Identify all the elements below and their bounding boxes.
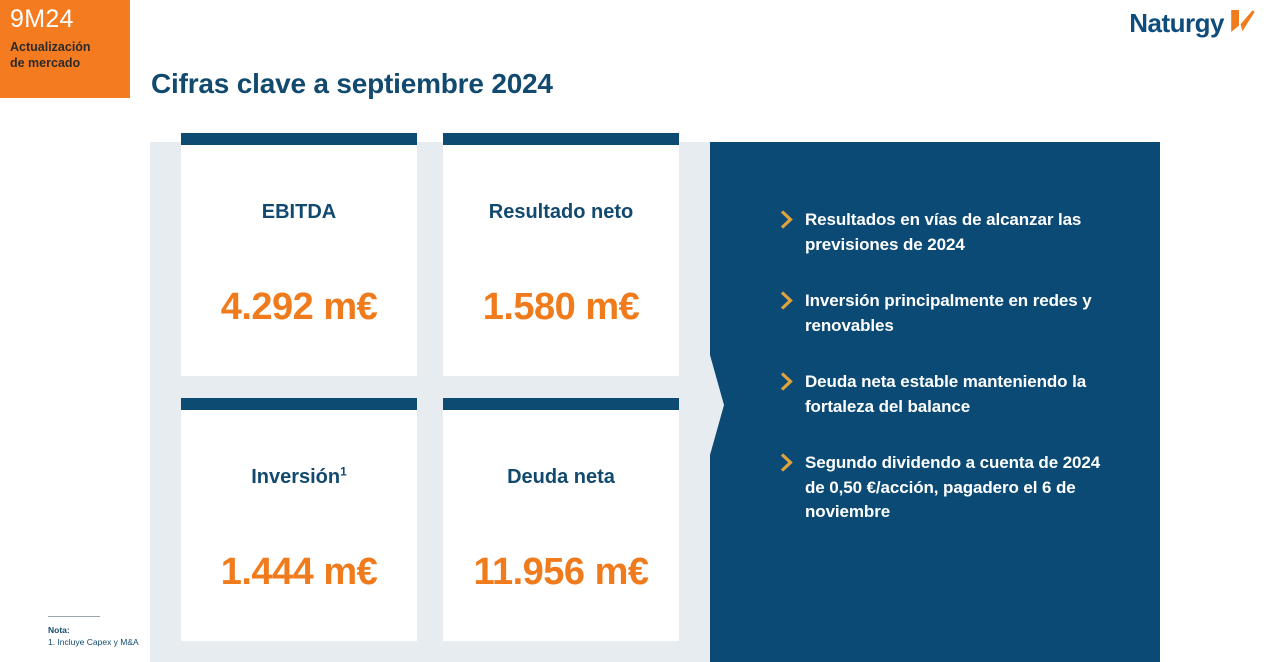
highlights-list: Resultados en vías de alcanzar las previ…: [780, 208, 1120, 525]
kpi-value: 1.444 m€: [181, 551, 417, 594]
kpi-value: 4.292 m€: [181, 286, 417, 329]
brand-logo: Naturgy: [1129, 8, 1256, 39]
kpi-label: Deuda neta: [443, 466, 679, 489]
highlights-panel: Resultados en vías de alcanzar las previ…: [710, 142, 1160, 662]
kpi-card-body: Resultado neto 1.580 m€: [443, 145, 679, 376]
footnote-text: 1. Incluye Capex y M&A: [48, 636, 144, 648]
kpi-value: 11.956 m€: [443, 551, 679, 594]
kpi-footnote-marker: 1: [340, 464, 347, 478]
chevron-right-icon: [780, 451, 796, 477]
period-subtitle-line1: Actualización: [10, 39, 120, 55]
kpi-label: Resultado neto: [443, 201, 679, 224]
kpi-value: 1.580 m€: [443, 286, 679, 329]
kpi-label: EBITDA: [181, 201, 417, 224]
kpi-card-top-bar: [181, 398, 417, 410]
kpi-label-text: Resultado neto: [489, 201, 633, 223]
kpi-card-deuda-neta: Deuda neta 11.956 m€: [443, 398, 679, 641]
highlight-text: Deuda neta estable manteniendo la fortal…: [805, 370, 1120, 419]
kpi-card-ebitda: EBITDA 4.292 m€: [181, 133, 417, 376]
kpi-card-grid: EBITDA 4.292 m€ Resultado neto 1.580 m€ …: [181, 133, 679, 662]
highlight-text: Inversión principalmente en redes y reno…: [805, 289, 1120, 338]
chevron-right-icon: [780, 208, 796, 234]
highlight-text: Segundo dividendo a cuenta de 2024 de 0,…: [805, 451, 1120, 525]
period-subtitle: Actualización de mercado: [10, 39, 120, 71]
period-label: 9M24: [10, 4, 120, 34]
kpi-card-body: Inversión1 1.444 m€: [181, 410, 417, 641]
period-tag: 9M24 Actualización de mercado: [0, 0, 130, 98]
footnote-divider: [48, 616, 100, 617]
footnote: Nota: 1. Incluye Capex y M&A: [48, 616, 144, 648]
kpi-card-inversion: Inversión1 1.444 m€: [181, 398, 417, 641]
kpi-card-body: Deuda neta 11.956 m€: [443, 410, 679, 641]
highlight-item: Inversión principalmente en redes y reno…: [780, 289, 1120, 338]
kpi-label-text: Inversión: [251, 466, 340, 488]
highlight-text: Resultados en vías de alcanzar las previ…: [805, 208, 1120, 257]
footnote-title: Nota:: [48, 624, 144, 636]
period-subtitle-line2: de mercado: [10, 55, 120, 71]
page-title: Cifras clave a septiembre 2024: [151, 68, 553, 100]
kpi-label-text: Deuda neta: [507, 466, 615, 488]
naturgy-flame-icon: [1228, 8, 1256, 39]
kpi-card-top-bar: [181, 133, 417, 145]
kpi-card-top-bar: [443, 133, 679, 145]
highlight-item: Deuda neta estable manteniendo la fortal…: [780, 370, 1120, 419]
kpi-label-text: EBITDA: [262, 201, 336, 223]
kpi-label: Inversión1: [181, 466, 417, 489]
kpi-card-resultado-neto: Resultado neto 1.580 m€: [443, 133, 679, 376]
highlight-item: Resultados en vías de alcanzar las previ…: [780, 208, 1120, 257]
kpi-card-body: EBITDA 4.292 m€: [181, 145, 417, 376]
chevron-right-icon: [780, 289, 796, 315]
brand-wordmark: Naturgy: [1129, 8, 1224, 39]
chevron-right-icon: [780, 370, 796, 396]
highlight-item: Segundo dividendo a cuenta de 2024 de 0,…: [780, 451, 1120, 525]
kpi-card-top-bar: [443, 398, 679, 410]
